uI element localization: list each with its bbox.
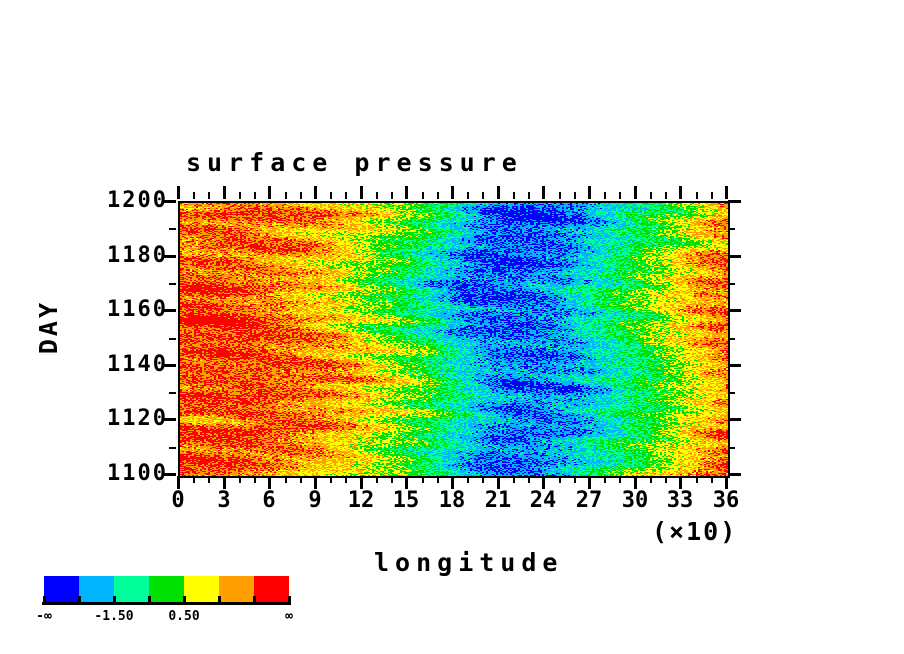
x-tick-label: 36 <box>713 490 740 512</box>
x-minor-tick-top <box>437 192 439 199</box>
x-minor-tick-top <box>300 192 302 199</box>
y-tick-label: 1160 <box>107 299 168 321</box>
y-axis-label: DAY <box>36 300 61 354</box>
x-major-tick-top <box>725 186 728 199</box>
x-minor-tick-top <box>422 192 424 199</box>
colorbar-label: 0.50 <box>168 610 199 623</box>
colorbar-tick <box>78 596 81 605</box>
x-major-tick-top <box>223 186 226 199</box>
y-minor-tick-right <box>728 338 735 340</box>
x-minor-tick <box>711 476 713 483</box>
y-minor-tick <box>169 392 176 394</box>
heatmap-data-canvas <box>180 203 728 476</box>
colorbar-tick <box>253 596 256 605</box>
y-minor-tick-right <box>728 228 735 230</box>
x-minor-tick <box>528 476 530 483</box>
x-tick-label: 21 <box>485 490 512 512</box>
x-minor-tick-top <box>513 192 515 199</box>
x-minor-tick <box>193 476 195 483</box>
y-minor-tick-right <box>728 447 735 449</box>
x-minor-tick <box>330 476 332 483</box>
x-minor-tick <box>604 476 606 483</box>
x-minor-tick-top <box>711 192 713 199</box>
x-minor-tick-top <box>345 192 347 199</box>
x-minor-tick-top <box>665 192 667 199</box>
x-minor-tick <box>437 476 439 483</box>
y-minor-tick <box>169 283 176 285</box>
x-tick-label: 0 <box>171 490 184 512</box>
colorbar-tick <box>218 596 221 605</box>
y-minor-tick-right <box>728 283 735 285</box>
x-minor-tick <box>345 476 347 483</box>
x-minor-tick <box>513 476 515 483</box>
y-minor-tick-right <box>728 392 735 394</box>
colorbar-segment-6[interactable] <box>254 576 289 602</box>
colorbar-label: ∞ <box>285 610 293 623</box>
x-minor-tick <box>208 476 210 483</box>
colorbar-segment-4[interactable] <box>184 576 219 602</box>
x-tick-label: 27 <box>576 490 603 512</box>
colorbar-segment-5[interactable] <box>219 576 254 602</box>
colorbar-tick <box>288 596 291 605</box>
y-tick-label: 1200 <box>107 190 168 212</box>
x-minor-tick-top <box>482 192 484 199</box>
colorbar-segment-3[interactable] <box>149 576 184 602</box>
y-major-tick-right <box>728 418 741 421</box>
colorbar-tick <box>113 596 116 605</box>
x-minor-tick <box>376 476 378 483</box>
y-major-tick-right <box>728 200 741 203</box>
x-major-tick-top <box>451 186 454 199</box>
colorbar-segment-1[interactable] <box>79 576 114 602</box>
x-major-tick-top <box>314 186 317 199</box>
y-major-tick-right <box>728 255 741 258</box>
x-minor-tick <box>665 476 667 483</box>
x-tick-label: 6 <box>262 490 275 512</box>
x-tick-label: 33 <box>667 490 694 512</box>
y-major-tick-right <box>728 309 741 312</box>
heatmap-plot-area[interactable] <box>178 201 730 478</box>
x-minor-tick-top <box>574 192 576 199</box>
x-minor-tick-top <box>604 192 606 199</box>
x-major-tick-top <box>542 186 545 199</box>
x-minor-tick-top <box>193 192 195 199</box>
colorbar-tick <box>43 596 46 605</box>
x-tick-label: 15 <box>393 490 420 512</box>
x-major-tick-top <box>588 186 591 199</box>
x-minor-tick-top <box>619 192 621 199</box>
x-minor-tick-top <box>467 192 469 199</box>
x-minor-tick <box>619 476 621 483</box>
x-minor-tick-top <box>559 192 561 199</box>
colorbar-label: -∞ <box>36 610 52 623</box>
y-major-tick-right <box>728 364 741 367</box>
x-minor-tick <box>574 476 576 483</box>
colorbar-segment-2[interactable] <box>114 576 149 602</box>
x-major-tick-top <box>268 186 271 199</box>
figure-canvas: surface pressure DAY longitude (×10) 036… <box>0 0 904 654</box>
x-minor-tick <box>300 476 302 483</box>
x-minor-tick-top <box>239 192 241 199</box>
colorbar-label: -1.50 <box>94 610 133 623</box>
x-minor-tick <box>650 476 652 483</box>
y-tick-label: 1100 <box>107 463 168 485</box>
x-tick-label: 18 <box>439 490 466 512</box>
y-minor-tick <box>169 228 176 230</box>
y-major-tick-right <box>728 473 741 476</box>
x-major-tick-top <box>679 186 682 199</box>
x-minor-tick <box>467 476 469 483</box>
y-minor-tick <box>169 447 176 449</box>
x-tick-label: 9 <box>308 490 321 512</box>
x-minor-tick <box>422 476 424 483</box>
x-tick-label: 12 <box>348 490 375 512</box>
x-minor-tick-top <box>330 192 332 199</box>
x-minor-tick <box>285 476 287 483</box>
y-tick-label: 1120 <box>107 408 168 430</box>
x-minor-tick <box>391 476 393 483</box>
x-axis-multiplier: (×10) <box>652 519 737 544</box>
y-minor-tick <box>169 338 176 340</box>
x-tick-label: 30 <box>622 490 649 512</box>
x-minor-tick-top <box>650 192 652 199</box>
x-major-tick-top <box>360 186 363 199</box>
chart-title: surface pressure <box>186 150 523 175</box>
x-minor-tick <box>559 476 561 483</box>
y-tick-label: 1140 <box>107 354 168 376</box>
x-minor-tick-top <box>696 192 698 199</box>
y-tick-label: 1180 <box>107 245 168 267</box>
x-minor-tick <box>254 476 256 483</box>
x-minor-tick-top <box>376 192 378 199</box>
x-major-tick-top <box>405 186 408 199</box>
colorbar-tick <box>183 596 186 605</box>
x-major-tick-top <box>177 186 180 199</box>
x-axis-label: longitude <box>374 550 563 575</box>
colorbar-segment-0[interactable] <box>44 576 79 602</box>
x-minor-tick-top <box>528 192 530 199</box>
x-minor-tick-top <box>208 192 210 199</box>
x-tick-label: 24 <box>530 490 557 512</box>
x-minor-tick-top <box>391 192 393 199</box>
x-major-tick-top <box>634 186 637 199</box>
x-minor-tick <box>239 476 241 483</box>
x-minor-tick-top <box>254 192 256 199</box>
x-major-tick-top <box>497 186 500 199</box>
x-tick-label: 3 <box>217 490 230 512</box>
x-minor-tick-top <box>285 192 287 199</box>
x-minor-tick <box>482 476 484 483</box>
colorbar-tick <box>148 596 151 605</box>
x-minor-tick <box>696 476 698 483</box>
